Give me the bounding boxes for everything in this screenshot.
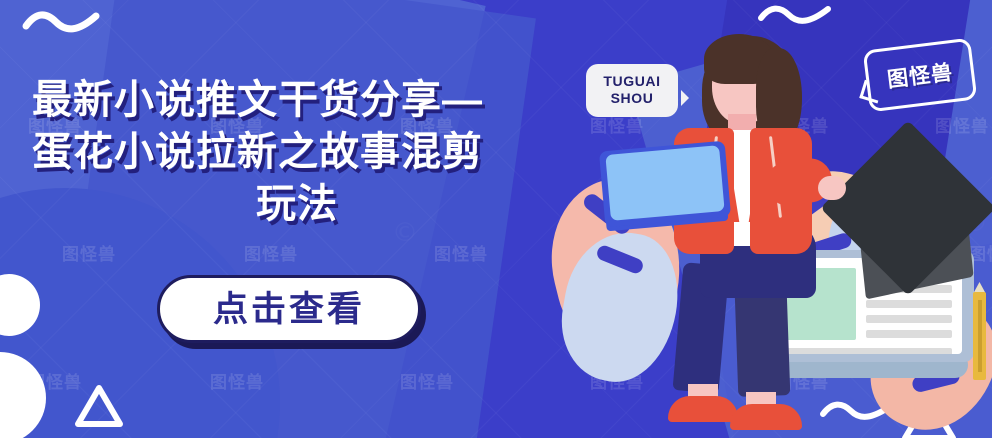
brand-speech-bubble: TUGUAI SHOU [586,64,678,117]
click-to-view-label: 点击查看 [213,292,365,327]
watermark-bubble-label: 图怪兽 [885,56,954,94]
headline-line-3: 玩法 [32,178,562,230]
click-to-view-button[interactable]: 点击查看 [157,275,421,343]
person-shoe-right [730,404,802,430]
brand-bubble-line2: SHOU [594,90,670,107]
pencil-stripe [978,300,982,372]
headline-block: 最新小说推文干货分享— 蛋花小说拉新之故事混剪 玩法 [32,74,562,230]
promo-banner: TUGUAI SHOU 图怪兽 最新小说推文干货分享— 蛋花小说拉新之故事混剪 … [0,0,992,438]
person-hand-right [818,176,846,200]
watermark-speech-bubble: 图怪兽 [863,38,978,113]
triangle-icon-bottom-left [74,382,124,430]
person-shoe-left [668,396,738,422]
squiggle-icon-top-left [22,8,102,36]
brand-bubble-line1: TUGUAI [594,73,670,90]
laptop-screen [605,145,724,221]
headline-line-2: 蛋花小说拉新之故事混剪 [32,126,562,178]
headline-line-1: 最新小说推文干货分享— [32,74,562,126]
